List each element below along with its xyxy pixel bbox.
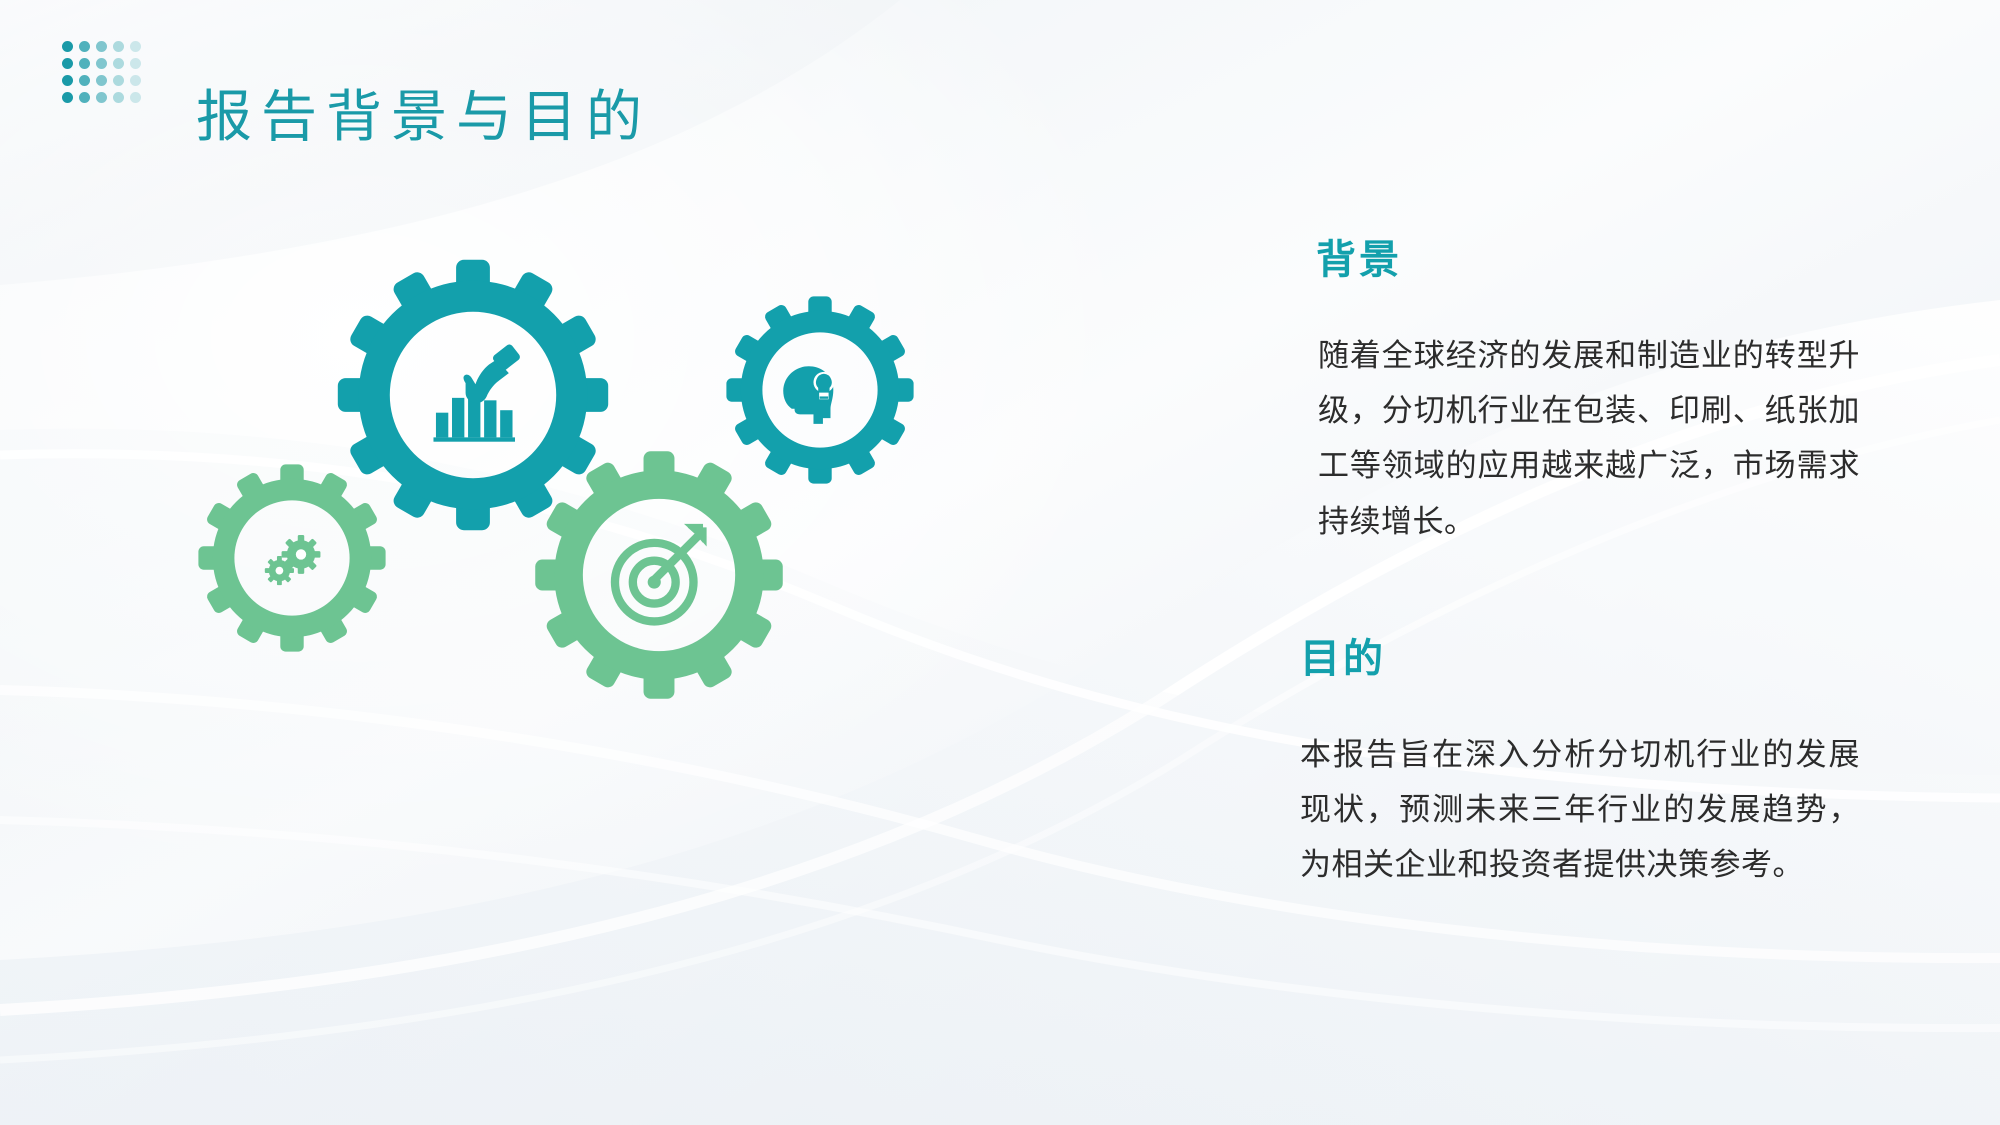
- grid-dot: [130, 41, 141, 52]
- grid-dot: [62, 92, 73, 103]
- grid-dot: [130, 92, 141, 103]
- grid-dot: [130, 75, 141, 86]
- grid-dot: [113, 41, 124, 52]
- dot-grid-decoration: [62, 41, 147, 109]
- grid-dot: [62, 58, 73, 69]
- block-heading-background: 背景: [1316, 240, 1860, 280]
- grid-dot: [96, 58, 107, 69]
- content-block-background: 背景 随着全球经济的发展和制造业的转型升级，分切机行业在包装、印刷、纸张加工等领…: [1318, 240, 1860, 549]
- grid-dot: [62, 75, 73, 86]
- gear-cluster-illustration: [200, 230, 990, 790]
- target-arrow-icon: [615, 524, 707, 622]
- grid-dot: [113, 75, 124, 86]
- block-heading-purpose: 目的: [1300, 639, 1860, 679]
- gears-icon: [265, 535, 321, 585]
- hand-bar-chart-icon: [433, 343, 521, 442]
- grid-dot: [79, 58, 90, 69]
- slide-canvas: 报告背景与目的: [0, 0, 2000, 1125]
- grid-dot: [113, 58, 124, 69]
- grid-dot: [79, 75, 90, 86]
- gear-insight: [726, 296, 913, 483]
- gear-cluster-svg: [200, 230, 990, 790]
- gear-process: [198, 464, 385, 651]
- grid-dot: [62, 41, 73, 52]
- gear-target: [535, 451, 783, 699]
- block-body-background: 随着全球经济的发展和制造业的转型升级，分切机行业在包装、印刷、纸张加工等领域的应…: [1318, 328, 1860, 549]
- block-body-purpose: 本报告旨在深入分析分切机行业的发展现状，预测未来三年行业的发展趋势，为相关企业和…: [1300, 727, 1860, 893]
- grid-dot: [96, 41, 107, 52]
- grid-dot: [130, 58, 141, 69]
- head-lightbulb-icon: [783, 366, 834, 424]
- gear-analysis: [338, 260, 608, 530]
- page-title: 报告背景与目的: [196, 88, 651, 150]
- slide-header: 报告背景与目的: [0, 0, 2000, 170]
- content-block-purpose: 目的 本报告旨在深入分析分切机行业的发展现状，预测未来三年行业的发展趋势，为相关…: [1300, 639, 1860, 893]
- grid-dot: [96, 75, 107, 86]
- content-column: 背景 随着全球经济的发展和制造业的转型升级，分切机行业在包装、印刷、纸张加工等领…: [1300, 240, 1860, 892]
- grid-dot: [96, 92, 107, 103]
- grid-dot: [79, 41, 90, 52]
- grid-dot: [113, 92, 124, 103]
- grid-dot: [79, 92, 90, 103]
